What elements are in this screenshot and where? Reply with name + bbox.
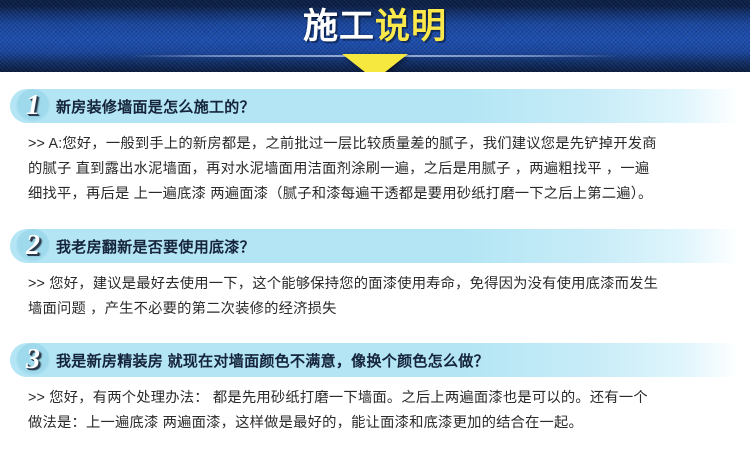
answer-line: 细找平，再后是 上一遍底漆 两遍面漆（腻子和漆每遍干透都是要用砂纸打磨一下之后上…	[28, 182, 728, 207]
question-row-1[interactable]: 1 新房装修墙面是怎么施工的？	[10, 89, 740, 123]
page-root: 施工说明 1 新房装修墙面是怎么施工的？ >> A:您好，一般到手上的新房都是，…	[0, 0, 750, 459]
answer-3: >> 您好，有两个处理办法： 都是先用砂纸打磨一下墙面。之后上两遍面漆也是可以的…	[28, 386, 728, 436]
question-text-3: 我是新房精装房 就现在对墙面颜色不满意，像换个颜色怎么做？	[56, 350, 489, 371]
question-number-2: 2	[10, 229, 56, 263]
answer-line: 做法是：上一遍底漆 两遍面漆，这样做是最好的，能让面漆和底漆更加的结合在一起。	[28, 411, 728, 436]
qa-block-1: 1 新房装修墙面是怎么施工的？ >> A:您好，一般到手上的新房都是，之前批过一…	[0, 89, 750, 207]
answer-line: >> 您好，建议是最好去使用一下，这个能够保持您的面漆使用寿命，免得因为没有使用…	[28, 272, 728, 297]
qa-block-2: 2 我老房翻新是否要使用底漆？ >> 您好，建议是最好去使用一下，这个能够保持您…	[0, 229, 750, 322]
answer-line: >> A:您好，一般到手上的新房都是，之前批过一层比较质量差的腻子，我们建议您是…	[28, 132, 728, 157]
down-arrow-icon	[342, 54, 408, 72]
question-row-2[interactable]: 2 我老房翻新是否要使用底漆？	[10, 229, 740, 263]
answer-1: >> A:您好，一般到手上的新房都是，之前批过一层比较质量差的腻子，我们建议您是…	[28, 132, 728, 207]
question-row-3[interactable]: 3 我是新房精装房 就现在对墙面颜色不满意，像换个颜色怎么做？	[10, 343, 740, 377]
question-number-badge-3: 3	[10, 343, 56, 377]
answer-line: 的腻子 直到露出水泥墙面，再对水泥墙面用洁面剂涂刷一遍，之后是用腻子 ，两遍粗找…	[28, 157, 728, 182]
answer-line: >> 您好，有两个处理办法： 都是先用砂纸打磨一下墙面。之后上两遍面漆也是可以的…	[28, 386, 728, 411]
question-text-1: 新房装修墙面是怎么施工的？	[56, 96, 255, 117]
page-title-part-yellow: 说明	[375, 7, 447, 46]
question-text-2: 我老房翻新是否要使用底漆？	[56, 236, 255, 257]
question-number-1: 1	[10, 89, 56, 123]
question-number-3: 3	[10, 343, 56, 377]
page-title-part-white: 施工	[303, 7, 375, 46]
header-banner: 施工说明	[0, 0, 750, 72]
qa-list: 1 新房装修墙面是怎么施工的？ >> A:您好，一般到手上的新房都是，之前批过一…	[0, 89, 750, 436]
answer-line: 墙面问题 ，产生不必要的第二次装修的经济损失	[28, 297, 728, 322]
page-title: 施工说明	[0, 4, 750, 49]
question-number-badge-2: 2	[10, 229, 56, 263]
qa-block-3: 3 我是新房精装房 就现在对墙面颜色不满意，像换个颜色怎么做？ >> 您好，有两…	[0, 343, 750, 436]
answer-2: >> 您好，建议是最好去使用一下，这个能够保持您的面漆使用寿命，免得因为没有使用…	[28, 272, 728, 322]
question-number-badge-1: 1	[10, 89, 56, 123]
